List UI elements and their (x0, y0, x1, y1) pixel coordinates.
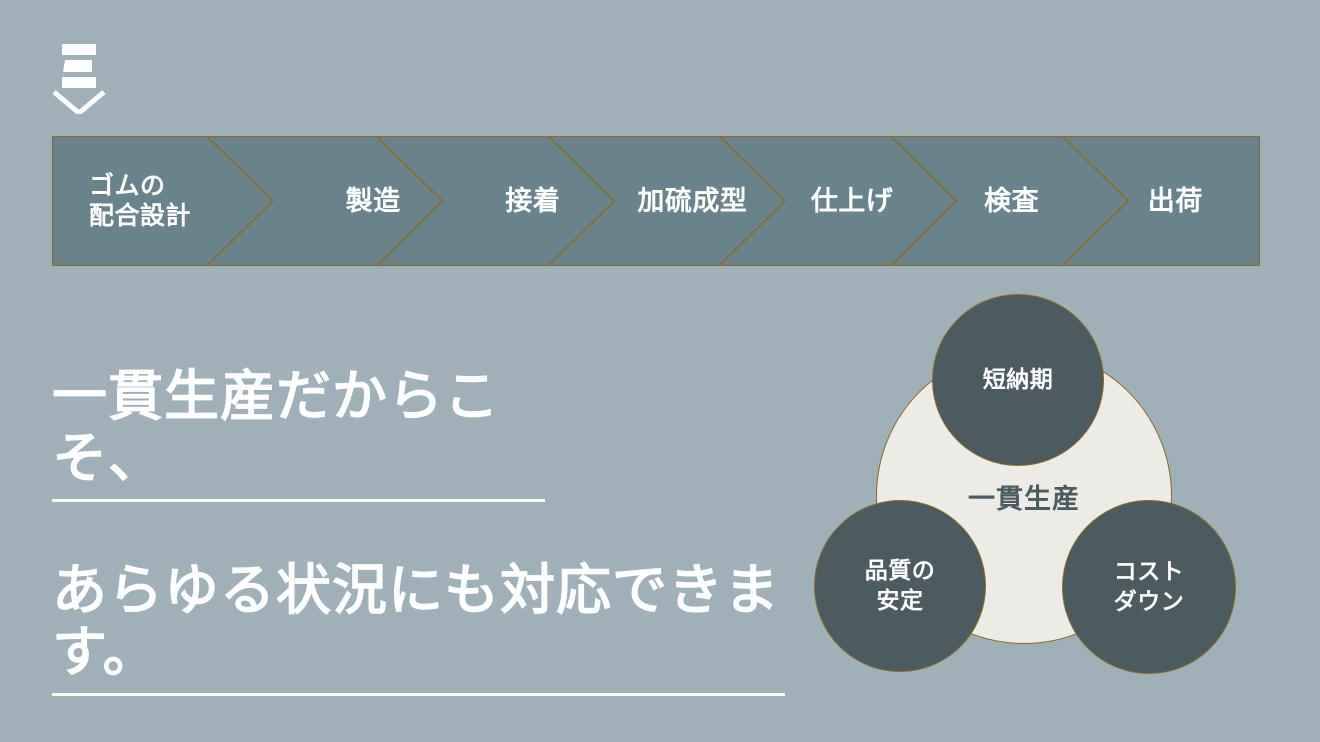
headline-line-2: あらゆる状況にも対応できます。 (52, 560, 785, 696)
headline-block: 一貫生産だからこそ、 あらゆる状況にも対応できます。 (52, 366, 812, 696)
process-step-5[interactable]: 仕上げ (772, 137, 932, 265)
venn-diagram: 一貫生産 短納期 品質の 安定 コスト ダウン (800, 284, 1270, 704)
process-step-6[interactable]: 検査 (932, 137, 1092, 265)
process-step-label: 製造 (346, 185, 401, 218)
process-step-3[interactable]: 接着 (453, 137, 613, 265)
process-step-label: ゴムの 配合設計 (89, 171, 191, 232)
process-step-list: ゴムの 配合設計 製造 接着 加硫成型 仕上げ 検査 出荷 (53, 137, 1259, 265)
process-step-1[interactable]: ゴムの 配合設計 (53, 137, 293, 265)
process-step-label: 接着 (505, 185, 560, 218)
process-step-label: 加硫成型 (637, 185, 747, 218)
headline-line-1: 一貫生産だからこそ、 (52, 366, 545, 502)
venn-lobe-short-delivery[interactable]: 短納期 (932, 294, 1104, 466)
logo-icon (52, 42, 114, 114)
venn-lobe-label: コスト ダウン (1114, 557, 1185, 617)
z-arrow-logo-mark (52, 42, 114, 114)
venn-lobe-cost-down[interactable]: コスト ダウン (1062, 500, 1236, 674)
venn-center-label: 一貫生産 (968, 477, 1080, 516)
venn-lobe-label: 短納期 (983, 365, 1054, 395)
process-step-label: 仕上げ (811, 185, 894, 218)
slide-canvas: ゴムの 配合設計 製造 接着 加硫成型 仕上げ 検査 出荷 一貫生産だからこそ、 (0, 0, 1320, 742)
process-step-4[interactable]: 加硫成型 (613, 137, 773, 265)
process-step-label: 出荷 (1148, 185, 1203, 218)
process-flow-bar: ゴムの 配合設計 製造 接着 加硫成型 仕上げ 検査 出荷 (52, 136, 1260, 266)
venn-lobe-quality-stability[interactable]: 品質の 安定 (814, 500, 986, 672)
venn-lobe-label: 品質の 安定 (865, 556, 936, 616)
process-step-label: 検査 (984, 185, 1039, 218)
process-step-2[interactable]: 製造 (293, 137, 453, 265)
process-step-7[interactable]: 出荷 (1091, 137, 1259, 265)
